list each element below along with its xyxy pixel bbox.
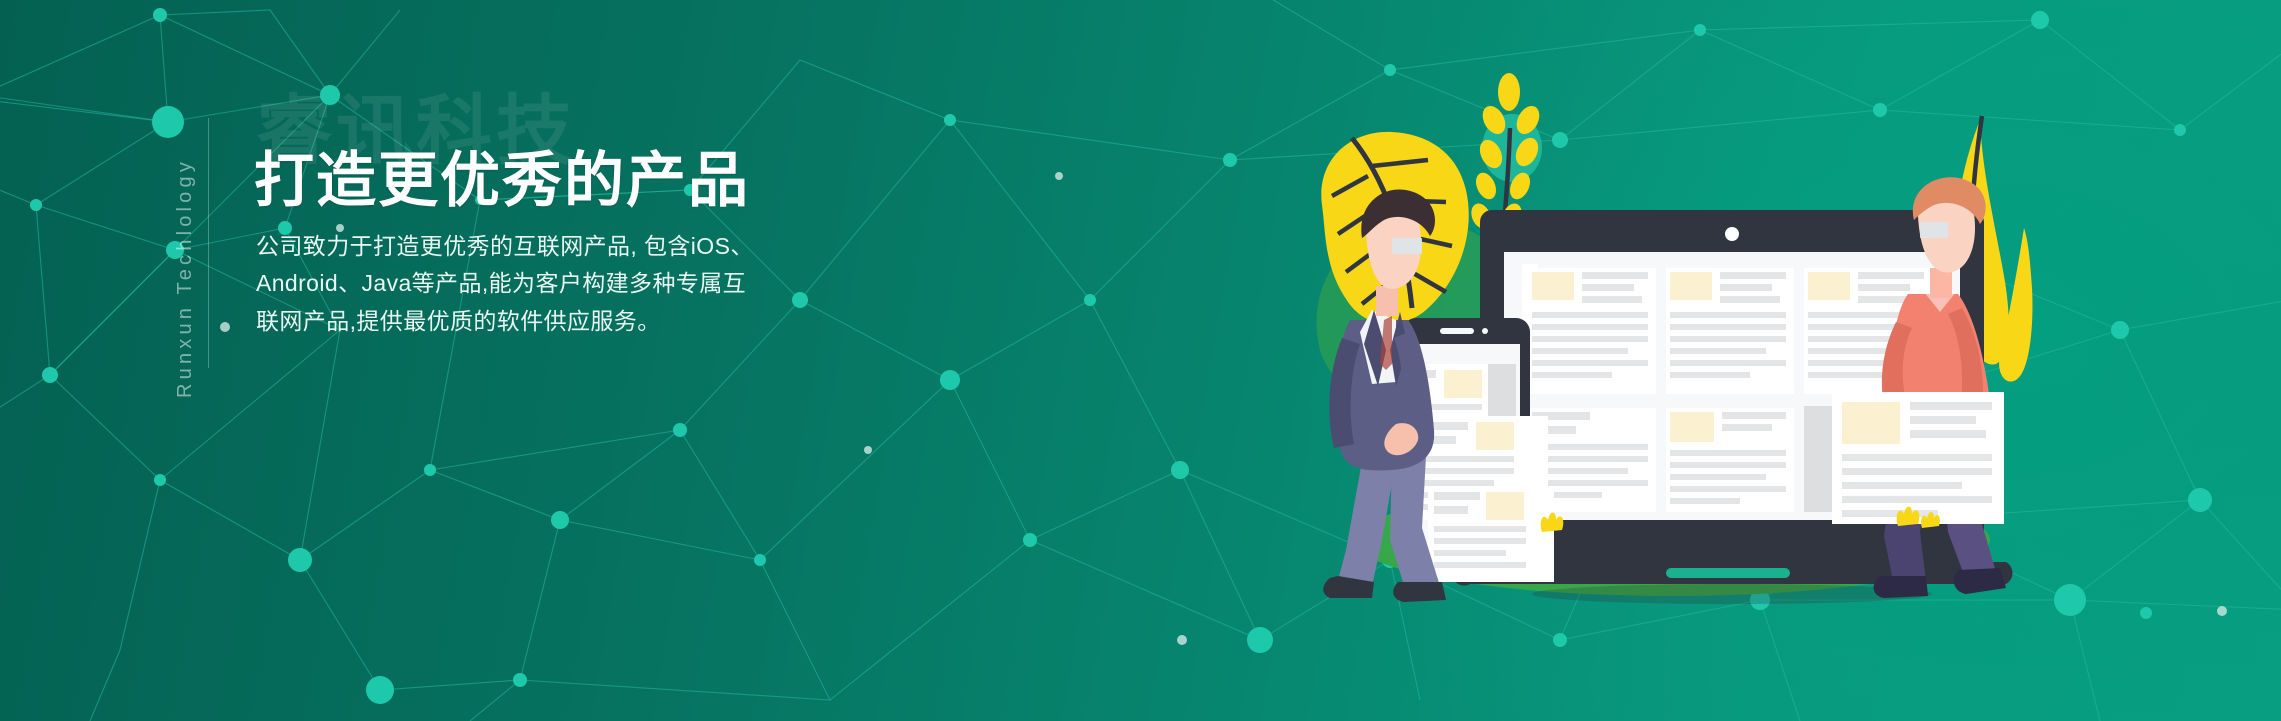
document-card-right	[1832, 392, 2004, 524]
page-title: 打造更优秀的产品	[254, 146, 750, 216]
description-line-3: 联网产品,提供最优质的软件供应服务。	[256, 303, 796, 340]
description-line-1: 公司致力于打造更优秀的互联网产品, 包含iOS、	[256, 228, 796, 265]
description-line-2: Android、Java等产品,能为客户构建多种专属互	[256, 265, 796, 302]
hero-description: 公司致力于打造更优秀的互联网产品, 包含iOS、 Android、Java等产品…	[256, 228, 796, 340]
hero-banner: Runxun Techlology 睿讯科技 打造更优秀的产品 公司致力于打造更…	[0, 0, 2281, 721]
devices-and-people-illustration	[1280, 20, 2040, 620]
brand-vertical-text: Runxun Techlology	[174, 118, 226, 398]
